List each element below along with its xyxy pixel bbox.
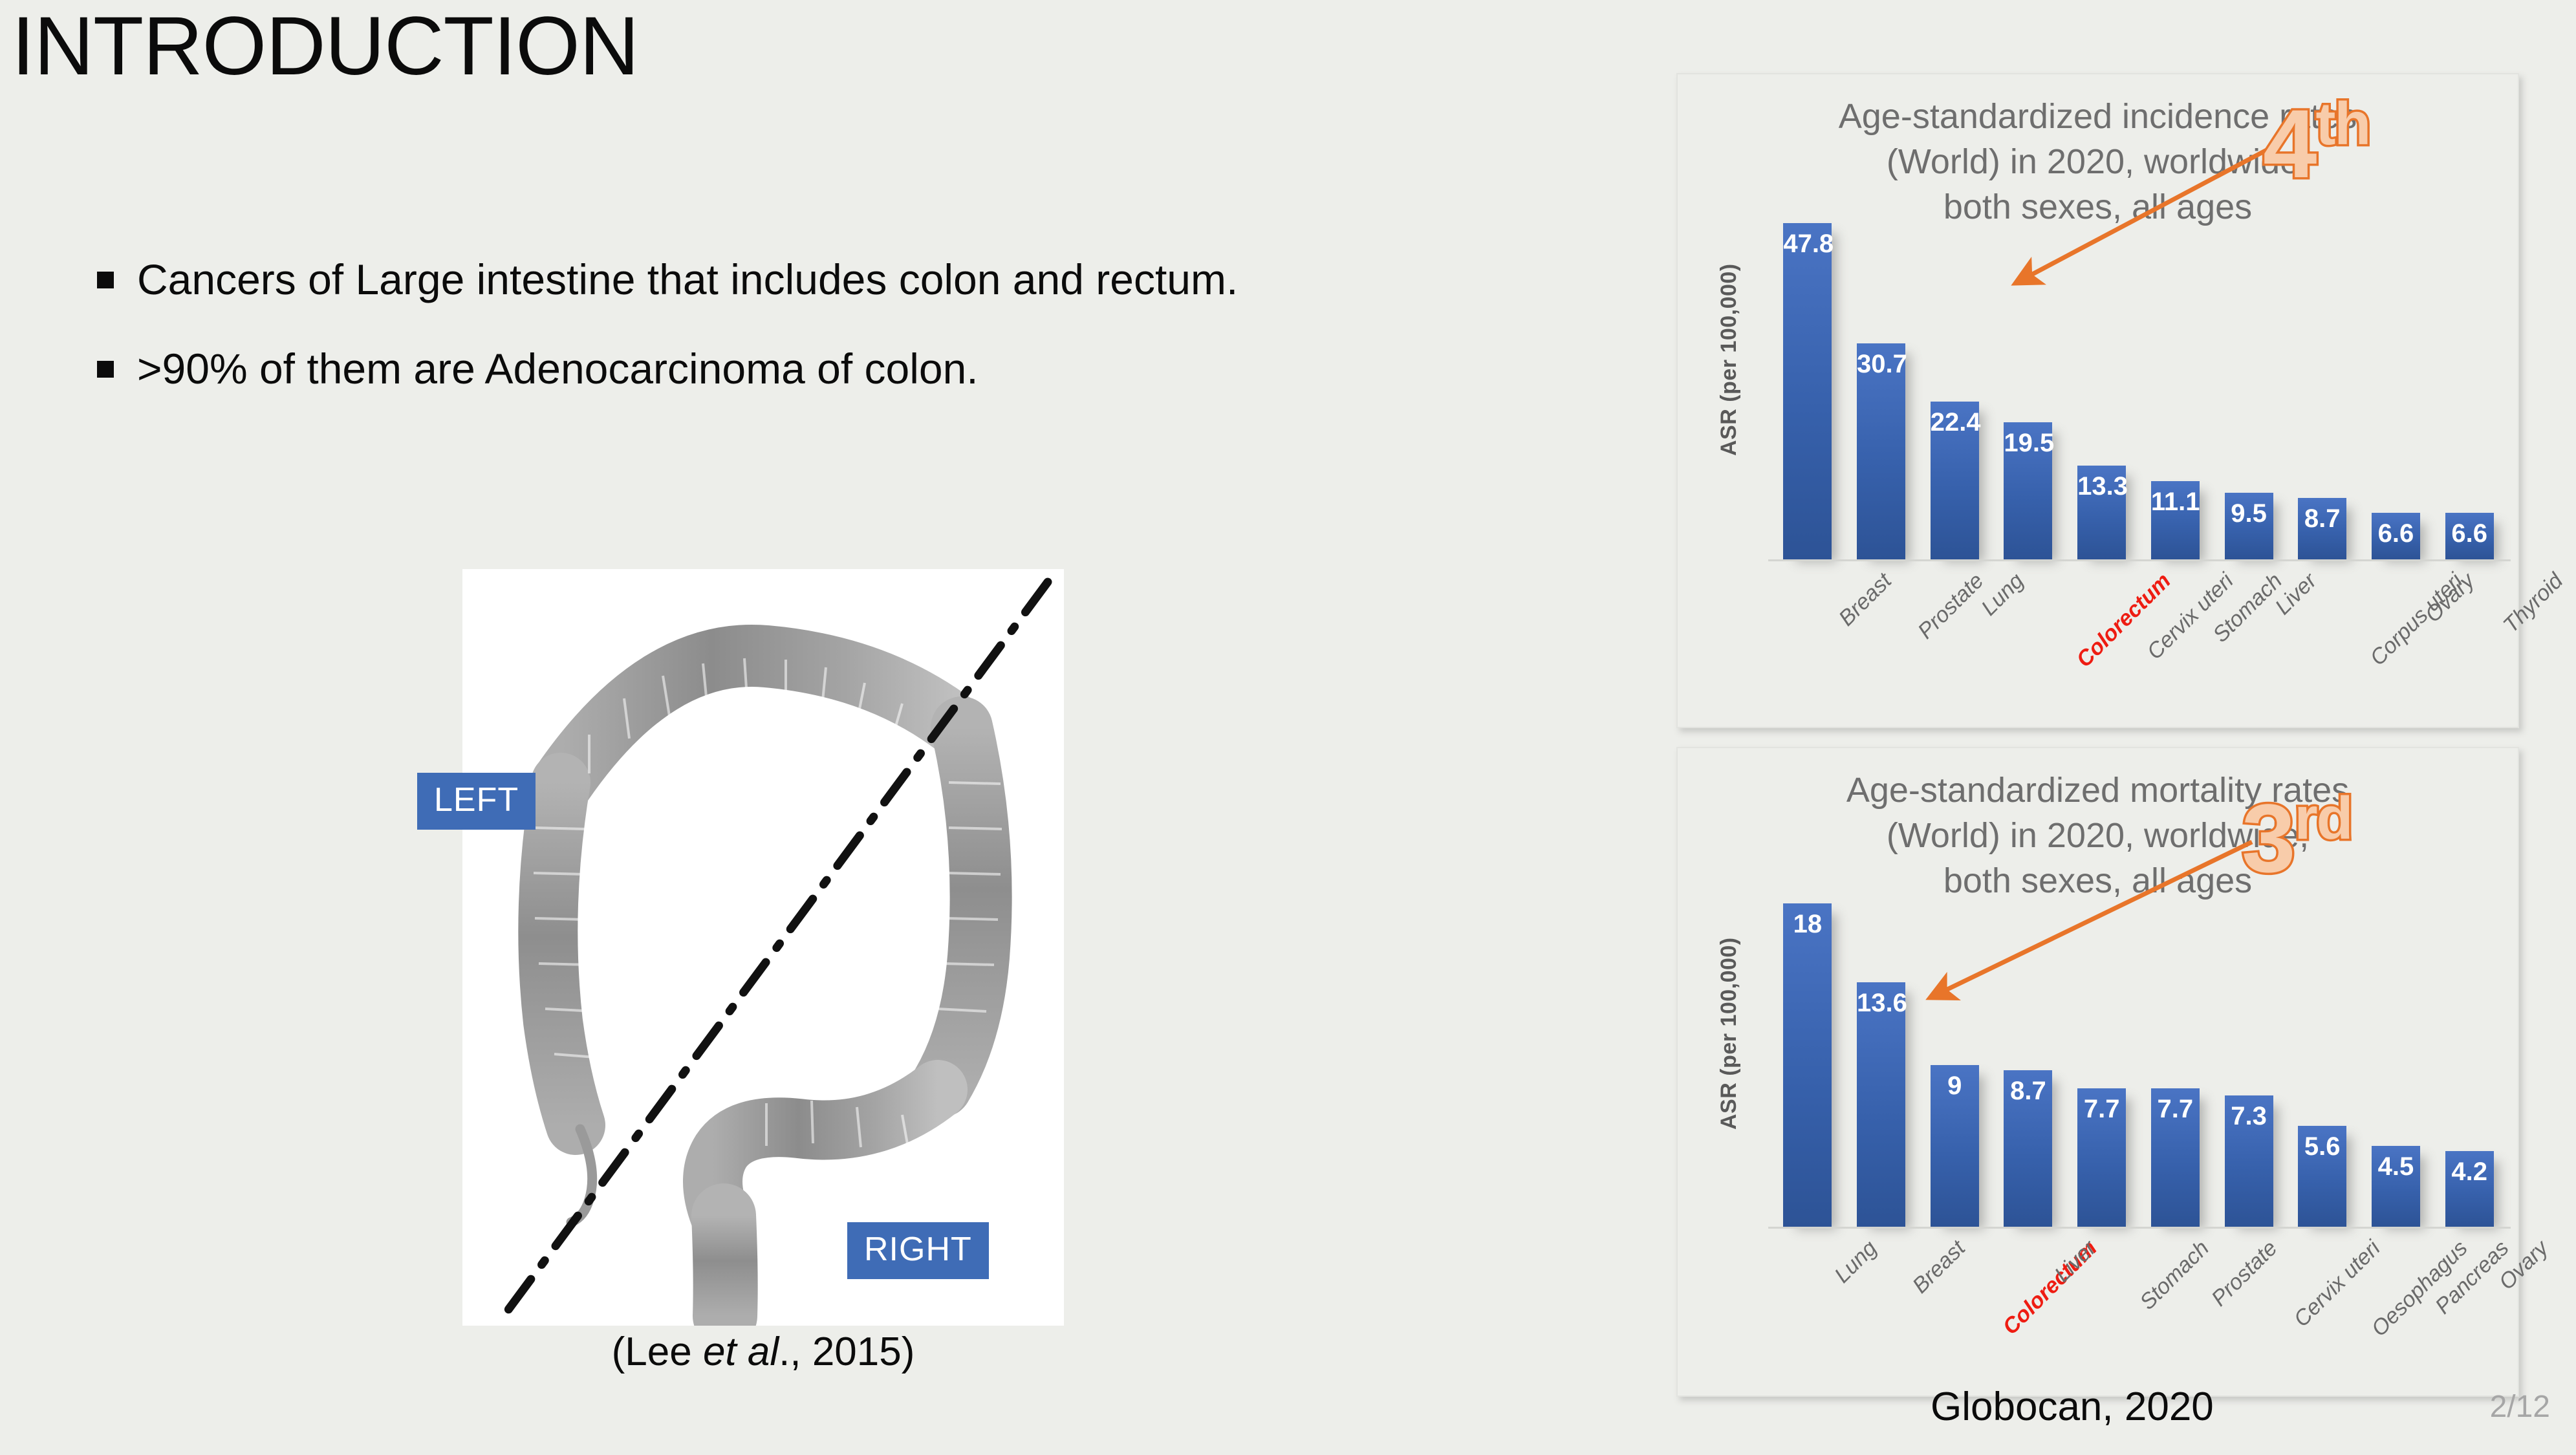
list-item: >90% of them are Adenocarcinoma of colon… [97, 341, 1572, 396]
chart-panel-incidence: Age-standardized incidence rates (World)… [1676, 73, 2519, 728]
caption-italic: et al [703, 1330, 779, 1374]
colon-image [462, 569, 1064, 1326]
chart-panel-mortality: Age-standardized mortality rates (World)… [1676, 747, 2519, 1397]
colon-figure: LEFT RIGHT [462, 569, 1064, 1326]
rank-number: 3 [2242, 784, 2294, 892]
plot-area-mortality: ASR (per 100,000) 1813.698.77.77.77.35.6… [1678, 748, 2520, 1396]
rank-annotation-mortality: 3rd [2242, 788, 2352, 887]
caption-suffix: ., 2015) [779, 1330, 915, 1374]
bullet-list: Cancers of Large intestine that includes… [97, 252, 1572, 431]
rank-annotation-incidence: 4th [2263, 94, 2370, 192]
rank-suffix: th [2315, 90, 2370, 157]
source-note: Globocan, 2020 [1931, 1384, 2214, 1430]
rank-number: 4 [2263, 89, 2315, 198]
right-region-tag: RIGHT [847, 1222, 989, 1279]
bullet-square-icon [97, 272, 114, 288]
plot-area-incidence: ASR (per 100,000) 47.830.722.419.513.311… [1678, 74, 2520, 727]
bullet-text: >90% of them are Adenocarcinoma of colon… [137, 341, 979, 396]
page-title: INTRODUCTION [12, 5, 638, 88]
figure-caption: (Lee et al., 2015) [462, 1329, 1064, 1375]
rank-arrow-mortality [1678, 748, 2520, 1398]
bullet-text: Cancers of Large intestine that includes… [137, 252, 1238, 307]
page-number: 2/12 [2490, 1389, 2550, 1425]
left-region-tag: LEFT [417, 773, 536, 830]
rank-arrow-incidence [1678, 74, 2520, 729]
caption-prefix: (Lee [612, 1330, 703, 1374]
list-item: Cancers of Large intestine that includes… [97, 252, 1572, 307]
bullet-square-icon [97, 361, 114, 378]
rank-suffix: rd [2294, 784, 2352, 852]
